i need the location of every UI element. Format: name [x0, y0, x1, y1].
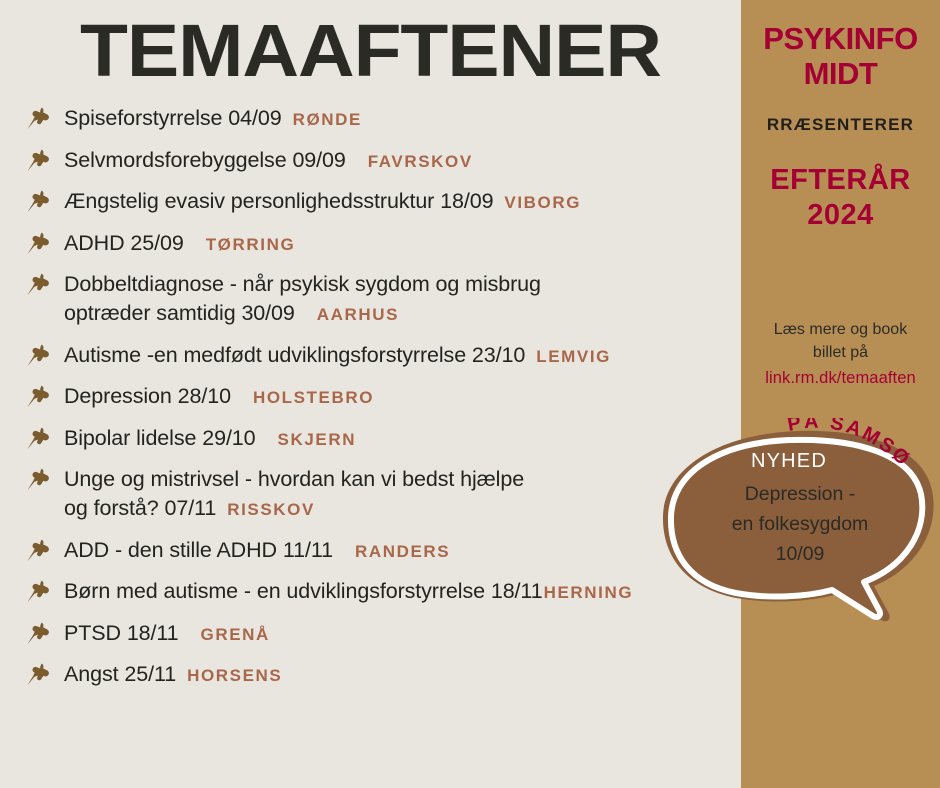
event-list: Spiseforstyrrelse 04/09RØNDE Selvmordsfo… [26, 104, 741, 702]
event-city: TØRRING [206, 235, 296, 255]
event-item[interactable]: Autisme -en medfødt udviklingsforstyrrel… [26, 341, 741, 370]
pushpin-icon [26, 189, 52, 213]
pushpin-icon [26, 231, 52, 255]
brand-name: PSYKINFO MIDT [741, 22, 940, 91]
event-title: Ængstelig evasiv personlighedsstruktur 1… [64, 187, 493, 216]
event-item[interactable]: Dobbeltdiagnose - når psykisk sygdom og … [26, 270, 741, 327]
pushpin-icon [26, 148, 52, 172]
pushpin-icon [26, 538, 52, 562]
pushpin-icon [26, 272, 52, 296]
season-year: 2024 [741, 198, 940, 232]
event-city: RISSKOV [227, 500, 315, 520]
brand-line-2: MIDT [741, 57, 940, 92]
pushpin-icon [26, 384, 52, 408]
event-city: GRENÅ [201, 625, 270, 645]
event-item[interactable]: Børn med autisme - en udviklingsforstyrr… [26, 577, 741, 606]
pushpin-icon [26, 343, 52, 367]
event-title: Unge og mistrivsel - hvordan kan vi beds… [64, 465, 741, 494]
presents-label: RRÆSENTERER [741, 115, 940, 135]
event-title: Spiseforstyrrelse 04/09 [64, 104, 282, 133]
event-city: AARHUS [317, 305, 399, 325]
page-title: TEMAAFTENER [0, 8, 763, 93]
event-item[interactable]: Ængstelig evasiv personlighedsstruktur 1… [26, 187, 741, 216]
season-heading: EFTERÅR 2024 [741, 163, 940, 231]
event-city: LEMVIG [536, 347, 611, 367]
bubble-event-text: Depression - en folkesygdom 10/09 [684, 479, 916, 570]
poster-canvas: TEMAAFTENER Spiseforstyrrelse 04/09RØNDE… [0, 0, 940, 788]
booking-line-1: Læs mere og book [774, 321, 907, 338]
event-city: RØNDE [293, 110, 362, 130]
pushpin-icon [26, 106, 52, 130]
nyhed-badge: NYHED [662, 450, 916, 473]
booking-line-2: billet på [741, 341, 940, 364]
event-item[interactable]: Bipolar lidelse 29/10SKJERN [26, 424, 741, 453]
event-title: PTSD 18/11 [64, 619, 179, 648]
event-item[interactable]: Unge og mistrivsel - hvordan kan vi beds… [26, 465, 741, 522]
pushpin-icon [26, 621, 52, 645]
pushpin-icon [26, 426, 52, 450]
event-item[interactable]: ADHD 25/09TØRRING [26, 229, 741, 258]
event-item[interactable]: Selvmordsforebyggelse 09/09FAVRSKOV [26, 146, 741, 175]
event-title-line-2: optræder samtidig 30/09 [64, 299, 295, 328]
event-city: RANDERS [355, 542, 450, 562]
pushpin-icon [26, 662, 52, 686]
event-title: Dobbeltdiagnose - når psykisk sygdom og … [64, 270, 741, 299]
pushpin-icon [26, 272, 52, 296]
news-speech-bubble: NYHED Depression - en folkesygdom 10/09 [660, 428, 940, 643]
event-city: VIBORG [504, 193, 581, 213]
event-city: HOLSTEBRO [253, 388, 374, 408]
event-city: HORSENS [187, 666, 282, 686]
event-city: FAVRSKOV [368, 152, 473, 172]
event-item[interactable]: ADD - den stille ADHD 11/11RANDERS [26, 536, 741, 565]
event-title: Angst 25/11 [64, 660, 176, 689]
event-city: HERNING [544, 583, 634, 603]
event-title: ADD - den stille ADHD 11/11 [64, 536, 333, 565]
event-title: Børn med autisme - en udviklingsforstyrr… [64, 577, 543, 606]
bubble-content: NYHED Depression - en folkesygdom 10/09 [684, 450, 916, 570]
brand-line-1: PSYKINFO [763, 21, 917, 56]
booking-info: Læs mere og book billet på link.rm.dk/te… [741, 318, 940, 391]
pushpin-icon [26, 662, 52, 686]
event-item[interactable]: Angst 25/11HORSENS [26, 660, 741, 689]
pushpin-icon [26, 538, 52, 562]
pushpin-icon [26, 467, 52, 491]
event-title: Depression 28/10 [64, 382, 231, 411]
pushpin-icon [26, 343, 52, 367]
pushpin-icon [26, 106, 52, 130]
event-title-line-2: og forstå? 07/11 [64, 494, 216, 523]
pushpin-icon [26, 148, 52, 172]
event-title: ADHD 25/09 [64, 229, 184, 258]
pushpin-icon [26, 579, 52, 603]
season-label: EFTERÅR [770, 164, 910, 196]
event-item[interactable]: Depression 28/10HOLSTEBRO [26, 382, 741, 411]
event-title: Selvmordsforebyggelse 09/09 [64, 146, 346, 175]
event-item[interactable]: Spiseforstyrrelse 04/09RØNDE [26, 104, 741, 133]
pushpin-icon [26, 231, 52, 255]
pushpin-icon [26, 189, 52, 213]
event-title: Autisme -en medfødt udviklingsforstyrrel… [64, 341, 525, 370]
event-item[interactable]: PTSD 18/11GRENÅ [26, 619, 741, 648]
pushpin-icon [26, 467, 52, 491]
pushpin-icon [26, 579, 52, 603]
event-city: SKJERN [278, 430, 357, 450]
event-title: Bipolar lidelse 29/10 [64, 424, 256, 453]
sidebar: PSYKINFO MIDT RRÆSENTERER EFTERÅR 2024 L… [741, 0, 940, 788]
pushpin-icon [26, 426, 52, 450]
pushpin-icon [26, 384, 52, 408]
pushpin-icon [26, 621, 52, 645]
booking-link[interactable]: link.rm.dk/temaaften [741, 367, 940, 391]
